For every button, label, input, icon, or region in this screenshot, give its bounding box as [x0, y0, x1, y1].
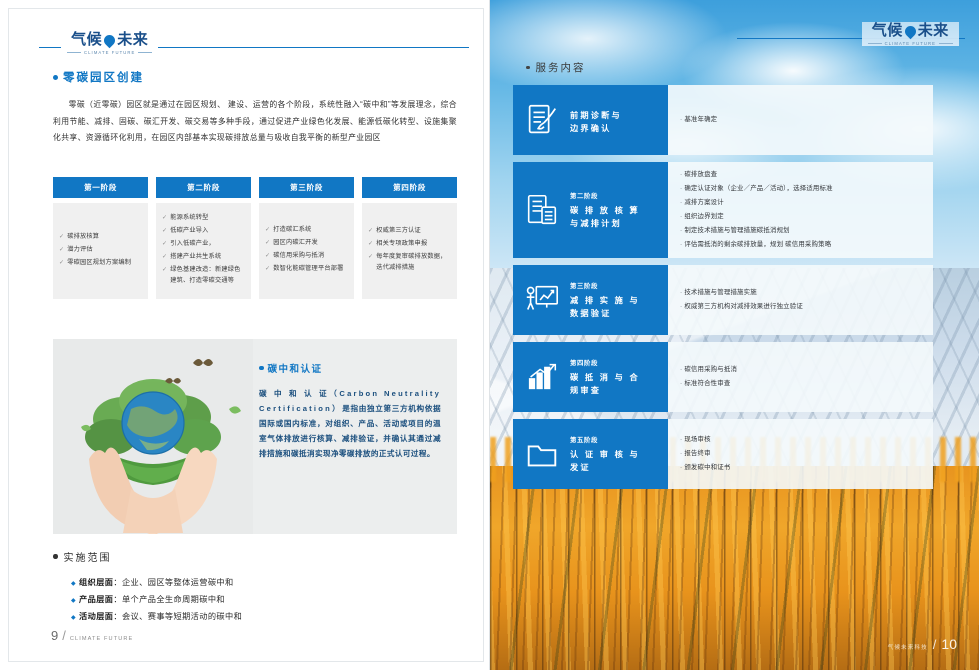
- stage-columns: 第一阶段 ✓碳排放核算 ✓潜力评估 ✓零碳园区规划方案编制 第二阶段 ✓能源系统…: [53, 177, 457, 299]
- scope-title-text: 实施范围: [64, 549, 112, 564]
- service-stage: 第二阶段: [570, 191, 640, 200]
- list-item: ◆ 产品层面：单个产品全生命周期碳中和: [71, 592, 461, 609]
- check-icon: ✓: [162, 239, 167, 250]
- service-name-line1: 减 排 实 施 与: [570, 294, 640, 307]
- page-title-right: 服务内容: [526, 60, 586, 75]
- check-icon: ✓: [162, 226, 167, 237]
- stage-item-text: 数智化能碳管理平台部署: [273, 264, 343, 275]
- stage-item: ✓引入低碳产业，: [162, 239, 245, 250]
- stage-item-text: 权威第三方认证: [376, 226, 421, 237]
- stage-header-4: 第四阶段: [362, 177, 457, 198]
- logo-text-cn: 气候 未来: [71, 31, 148, 49]
- diamond-bullet-icon: ◆: [71, 576, 76, 592]
- certification-text: 碳中和认证 碳 中 和 认 证（Carbon Neutrality Certif…: [253, 339, 457, 534]
- service-name-line1: 碳 排 放 核 算: [570, 204, 640, 217]
- service-bullet: 组织边界划定: [680, 212, 921, 222]
- service-stage: 第四阶段: [570, 358, 640, 367]
- stage-item: ✓碳信用采购与抵消: [265, 251, 348, 262]
- right-page: 气候 未来 CLIMATE FUTURE 服务内容: [490, 0, 979, 670]
- stage-item-text: 相关专项政策申报: [376, 239, 427, 250]
- service-name-line1: 前期诊断与: [570, 109, 622, 122]
- check-icon: ✓: [59, 258, 64, 269]
- bullet-dot-icon: [53, 554, 58, 559]
- service-label-block: 第三阶段 减 排 实 施 与 数据验证: [513, 265, 668, 335]
- logo-text-en: CLIMATE FUTURE: [67, 50, 152, 55]
- service-bullet: 碳排放盘查: [680, 170, 921, 180]
- scope-item-label: 产品层面: [79, 595, 113, 604]
- stage-item-text: 园区内碳汇开发: [273, 238, 318, 249]
- stage-item-text: 碳信用采购与抵消: [273, 251, 324, 262]
- stage-item: ✓绿色基建改造：新建绿色建筑、打造零碳交通等: [162, 265, 245, 286]
- diamond-bullet-icon: ◆: [71, 610, 76, 626]
- intro-paragraph: 零碳（近零碳）园区就是通过在园区规划、 建设、运营的各个阶段，系统性融入“碳中和…: [53, 97, 457, 147]
- footer-label-left: CLIMATE FUTURE: [70, 636, 133, 642]
- service-row: 第五阶段 认 证 审 核 与 发证 现场审核 报告终审 颁发碳中和证书: [513, 419, 933, 489]
- stage-item: ✓相关专项政策申报: [368, 239, 451, 250]
- stage-item-text: 引入低碳产业，: [170, 239, 215, 250]
- service-bullets: 基准年确定: [668, 85, 933, 155]
- scope-item-text: ：单个产品全生命周期碳中和: [113, 595, 225, 604]
- service-bullet: 评估需抵消的剩余碳排放量，规划 碳信用采购策略: [680, 240, 921, 250]
- service-row: 第三阶段 减 排 实 施 与 数据验证 技术措施与管理措施实施 权威第三方机构对…: [513, 265, 933, 335]
- stage-item: ✓能源系统转型: [162, 213, 245, 224]
- certification-body: 碳 中 和 认 证（Carbon Neutrality Certificatio…: [259, 386, 441, 461]
- ledger-calculator-icon: [523, 191, 561, 229]
- stage-body-4: ✓权威第三方认证 ✓相关专项政策申报 ✓每年度复审碳排放数据，迭代减排措施: [362, 203, 457, 299]
- check-icon: ✓: [265, 264, 270, 275]
- footer-slash: /: [62, 628, 66, 643]
- document-quill-icon: [523, 101, 561, 139]
- stage-item-text: 打造碳汇系统: [273, 225, 311, 236]
- list-item: ◆ 组织层面：企业、园区等整体运营碳中和: [71, 575, 461, 592]
- stage-item-text: 绿色基建改造：新建绿色建筑、打造零碳交通等: [170, 265, 245, 286]
- stage-item: ✓低碳产业导入: [162, 226, 245, 237]
- scope-item-text: ：企业、园区等整体运营碳中和: [113, 578, 233, 587]
- growth-bar-arrow-icon: [523, 358, 561, 396]
- service-name-line2: 规审查: [570, 384, 640, 397]
- presentation-chart-person-icon: [523, 281, 561, 319]
- service-name-line2: 边界确认: [570, 122, 622, 135]
- stage-item: ✓数智化能碳管理平台部署: [265, 264, 348, 275]
- stage-item-text: 碳排放核算: [67, 232, 99, 243]
- service-bullet: 现场审核: [680, 435, 921, 445]
- stage-column-1: 第一阶段 ✓碳排放核算 ✓潜力评估 ✓零碳园区规划方案编制: [53, 177, 148, 299]
- stage-column-2: 第二阶段 ✓能源系统转型 ✓低碳产业导入 ✓引入低碳产业， ✓搭建产业共生系统 …: [156, 177, 251, 299]
- stage-header-2: 第二阶段: [156, 177, 251, 198]
- certification-title-text: 碳中和认证: [268, 361, 323, 375]
- stage-item: ✓园区内碳汇开发: [265, 238, 348, 249]
- logo-lockup: 气候 未来 CLIMATE FUTURE: [61, 31, 158, 55]
- stage-item-text: 潜力评估: [67, 245, 93, 256]
- service-label-block: 第二阶段 碳 排 放 核 算 与减排计划: [513, 162, 668, 258]
- leaf-icon: [102, 32, 118, 48]
- logo-lockup-right: 气候 未来 CLIMATE FUTURE: [862, 22, 959, 46]
- service-bullets: 技术措施与管理措施实施 权威第三方机构对减排效果进行独立验证: [668, 265, 933, 335]
- service-name-line2: 发证: [570, 461, 640, 474]
- scope-list: ◆ 组织层面：企业、园区等整体运营碳中和 ◆ 产品层面：单个产品全生命周期碳中和…: [71, 575, 461, 626]
- logo-cn-part2: 未来: [117, 31, 148, 49]
- stage-column-3: 第三阶段 ✓打造碳汇系统 ✓园区内碳汇开发 ✓碳信用采购与抵消 ✓数智化能碳管理…: [259, 177, 354, 299]
- brochure-spread: 气候 未来 CLIMATE FUTURE 零碳园区创建 零碳（近零碳）园区就是通…: [0, 0, 979, 670]
- leaf-icon: [903, 23, 919, 39]
- page-title-left: 零碳园区创建: [53, 69, 144, 85]
- service-stage: 第三阶段: [570, 281, 640, 290]
- logo-cn-part2: 未来: [918, 22, 949, 40]
- page-title-left-text: 零碳园区创建: [63, 69, 144, 85]
- bullet-dot-icon: [526, 66, 530, 70]
- service-labels: 第三阶段 减 排 实 施 与 数据验证: [570, 281, 640, 320]
- folder-icon: [523, 435, 561, 473]
- stage-header-1: 第一阶段: [53, 177, 148, 198]
- left-page-frame: 气候 未来 CLIMATE FUTURE 零碳园区创建 零碳（近零碳）园区就是通…: [8, 8, 484, 662]
- check-icon: ✓: [162, 213, 167, 224]
- page-number-right: 10: [941, 636, 957, 652]
- check-icon: ✓: [368, 252, 373, 273]
- scope-item-label: 组织层面: [79, 578, 113, 587]
- check-icon: ✓: [162, 252, 167, 263]
- service-list: 前期诊断与 边界确认 基准年确定: [513, 85, 933, 496]
- service-name-line1: 碳 抵 消 与 合: [570, 371, 640, 384]
- stage-item-text: 每年度复审碳排放数据，迭代减排措施: [376, 252, 451, 273]
- stage-item-text: 低碳产业导入: [170, 226, 208, 237]
- service-name-line1: 认 证 审 核 与: [570, 448, 640, 461]
- bullet-dot-icon: [53, 75, 58, 80]
- check-icon: ✓: [162, 265, 167, 286]
- hands-holding-earth-illustration: [53, 339, 253, 534]
- hands-earth-image: [53, 339, 253, 534]
- service-bullet: 减排方案设计: [680, 198, 921, 208]
- service-label-block: 第四阶段 碳 抵 消 与 合 规审查: [513, 342, 668, 412]
- certification-panel: 碳中和认证 碳 中 和 认 证（Carbon Neutrality Certif…: [53, 339, 457, 534]
- diamond-bullet-icon: ◆: [71, 593, 76, 609]
- service-labels: 第四阶段 碳 抵 消 与 合 规审查: [570, 358, 640, 397]
- footer-right: 气候未来科技 / 10: [888, 636, 957, 652]
- service-row: 第二阶段 碳 排 放 核 算 与减排计划 碳排放盘查 确定认证对象（企业／产品／…: [513, 162, 933, 258]
- service-bullet: 报告终审: [680, 449, 921, 459]
- stage-header-3: 第三阶段: [259, 177, 354, 198]
- stage-item: ✓碳排放核算: [59, 232, 142, 243]
- check-icon: ✓: [368, 239, 373, 250]
- list-item: ◆ 活动层面：会议、赛事等短期活动的碳中和: [71, 609, 461, 626]
- stage-item: ✓每年度复审碳排放数据，迭代减排措施: [368, 252, 451, 273]
- footer-left: 9 / CLIMATE FUTURE: [51, 628, 133, 643]
- service-bullet: 权威第三方机构对减排效果进行独立验证: [680, 302, 921, 312]
- scope-title: 实施范围: [53, 549, 112, 564]
- page-number-left: 9: [51, 628, 58, 643]
- footer-label-right: 气候未来科技: [888, 643, 928, 651]
- service-bullet: 碳信用采购与抵消: [680, 365, 921, 375]
- service-bullet: 制定技术措施与管理措施碳抵消规划: [680, 226, 921, 236]
- check-icon: ✓: [59, 245, 64, 256]
- logo-cn-part1: 气候: [71, 31, 102, 49]
- stage-column-4: 第四阶段 ✓权威第三方认证 ✓相关专项政策申报 ✓每年度复审碳排放数据，迭代减排…: [362, 177, 457, 299]
- footer-slash: /: [933, 637, 937, 652]
- service-stage: 第五阶段: [570, 435, 640, 444]
- service-bullet: 标准符合性审查: [680, 379, 921, 389]
- service-row: 第四阶段 碳 抵 消 与 合 规审查 碳信用采购与抵消 标准符合性审查: [513, 342, 933, 412]
- stage-item: ✓打造碳汇系统: [265, 225, 348, 236]
- service-labels: 第五阶段 认 证 审 核 与 发证: [570, 435, 640, 474]
- service-label-block: 前期诊断与 边界确认: [513, 85, 668, 155]
- service-bullet: 确定认证对象（企业／产品／活动），选择适用标准: [680, 184, 921, 194]
- service-labels: 第二阶段 碳 排 放 核 算 与减排计划: [570, 191, 640, 230]
- service-bullet: 基准年确定: [680, 115, 921, 125]
- stage-item: ✓潜力评估: [59, 245, 142, 256]
- scope-item-label: 活动层面: [79, 612, 113, 621]
- stage-item-text: 零碳园区规划方案编制: [67, 258, 131, 269]
- service-bullets: 碳排放盘查 确定认证对象（企业／产品／活动），选择适用标准 减排方案设计 组织边…: [668, 162, 933, 258]
- service-name-line2: 与减排计划: [570, 217, 640, 230]
- service-bullet: 技术措施与管理措施实施: [680, 288, 921, 298]
- bullet-dot-icon: [259, 366, 264, 371]
- service-name-line2: 数据验证: [570, 307, 640, 320]
- header-logo-left: 气候 未来 CLIMATE FUTURE: [39, 31, 471, 65]
- scope-item-text: ：会议、赛事等短期活动的碳中和: [113, 612, 242, 621]
- service-row: 前期诊断与 边界确认 基准年确定: [513, 85, 933, 155]
- stage-item: ✓搭建产业共生系统: [162, 252, 245, 263]
- service-bullets: 碳信用采购与抵消 标准符合性审查: [668, 342, 933, 412]
- stage-item-text: 能源系统转型: [170, 213, 208, 224]
- service-bullet: 颁发碳中和证书: [680, 463, 921, 473]
- logo-text-en-right: CLIMATE FUTURE: [868, 41, 953, 46]
- stage-item: ✓权威第三方认证: [368, 226, 451, 237]
- service-label-block: 第五阶段 认 证 审 核 与 发证: [513, 419, 668, 489]
- service-labels: 前期诊断与 边界确认: [570, 105, 622, 135]
- logo-cn-part1: 气候: [872, 22, 903, 40]
- check-icon: ✓: [265, 238, 270, 249]
- service-bullets: 现场审核 报告终审 颁发碳中和证书: [668, 419, 933, 489]
- stage-body-1: ✓碳排放核算 ✓潜力评估 ✓零碳园区规划方案编制: [53, 203, 148, 299]
- stage-item-text: 搭建产业共生系统: [170, 252, 221, 263]
- check-icon: ✓: [59, 232, 64, 243]
- check-icon: ✓: [265, 251, 270, 262]
- certification-title: 碳中和认证: [259, 361, 441, 375]
- stage-body-3: ✓打造碳汇系统 ✓园区内碳汇开发 ✓碳信用采购与抵消 ✓数智化能碳管理平台部署: [259, 203, 354, 299]
- stage-body-2: ✓能源系统转型 ✓低碳产业导入 ✓引入低碳产业， ✓搭建产业共生系统 ✓绿色基建…: [156, 203, 251, 299]
- header-logo-right: 气候 未来 CLIMATE FUTURE: [737, 22, 967, 56]
- stage-item: ✓零碳园区规划方案编制: [59, 258, 142, 269]
- check-icon: ✓: [368, 226, 373, 237]
- page-title-right-text: 服务内容: [536, 60, 586, 75]
- left-page: 气候 未来 CLIMATE FUTURE 零碳园区创建 零碳（近零碳）园区就是通…: [0, 0, 490, 670]
- logo-text-cn-right: 气候 未来: [872, 22, 949, 40]
- check-icon: ✓: [265, 225, 270, 236]
